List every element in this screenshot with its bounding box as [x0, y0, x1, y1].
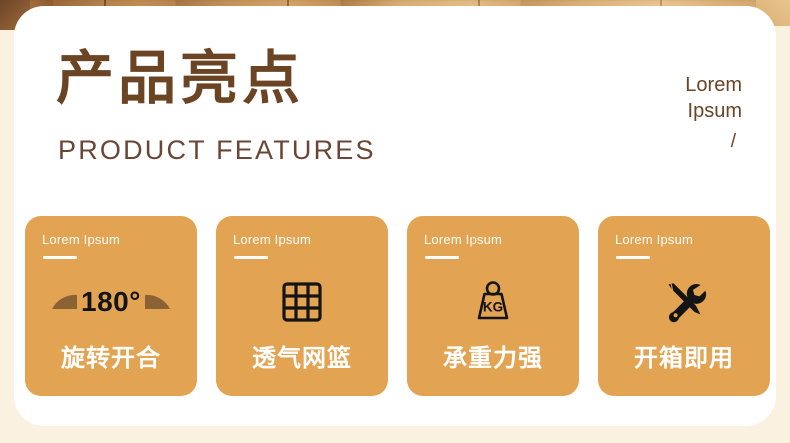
card-eyebrow-label: Lorem Ipsum — [424, 232, 502, 247]
card-eyebrow-label: Lorem Ipsum — [233, 232, 311, 247]
weight-kg-icon: KG — [470, 279, 516, 325]
card-underline-rule — [43, 256, 77, 259]
rotate-degrees-text: 180° — [81, 288, 141, 316]
card-icon-slot: 180° — [25, 274, 197, 330]
card-underline-rule — [425, 256, 459, 259]
card-underline-rule — [234, 256, 268, 259]
card-title-text: 旋转开合 — [25, 338, 197, 373]
card-icon-slot — [598, 274, 770, 330]
header-section: 产品亮点 PRODUCT FEATURES Lorem Ipsum / — [14, 6, 776, 206]
feature-card-row: Lorem Ipsum 180° 旋转开合 Lorem Ipsum — [0, 216, 790, 402]
card-icon-slot — [216, 274, 388, 330]
header-right-slash: / — [562, 132, 742, 152]
slide-canvas: 产品亮点 PRODUCT FEATURES Lorem Ipsum / Lore… — [0, 0, 790, 443]
card-underline-rule — [616, 256, 650, 259]
feature-card-weight[interactable]: Lorem Ipsum KG 承重力强 — [407, 216, 579, 396]
card-icon-slot: KG — [407, 274, 579, 330]
mesh-grid-basket-icon — [281, 281, 323, 323]
card-title-text: 透气网篮 — [216, 338, 388, 373]
page-title-cn: 产品亮点 — [56, 50, 304, 108]
header-right-line2: Ipsum — [562, 98, 742, 124]
card-eyebrow-label: Lorem Ipsum — [42, 232, 120, 247]
card-title-text: 承重力强 — [407, 338, 579, 373]
rotate-180-degrees-icon: 180° — [48, 288, 174, 316]
feature-card-tools[interactable]: Lorem Ipsum 开箱即用 — [598, 216, 770, 396]
header-right-line1: Lorem — [562, 72, 742, 98]
header-right-block: Lorem Ipsum / — [562, 72, 742, 152]
card-eyebrow-label: Lorem Ipsum — [615, 232, 693, 247]
wrench-screwdriver-icon — [660, 278, 708, 326]
page-title-en: PRODUCT FEATURES — [58, 137, 376, 164]
feature-card-rotate[interactable]: Lorem Ipsum 180° 旋转开合 — [25, 216, 197, 396]
weight-kg-text: KG — [483, 300, 503, 315]
feature-card-mesh[interactable]: Lorem Ipsum 透气网篮 — [216, 216, 388, 396]
card-title-text: 开箱即用 — [598, 338, 770, 373]
